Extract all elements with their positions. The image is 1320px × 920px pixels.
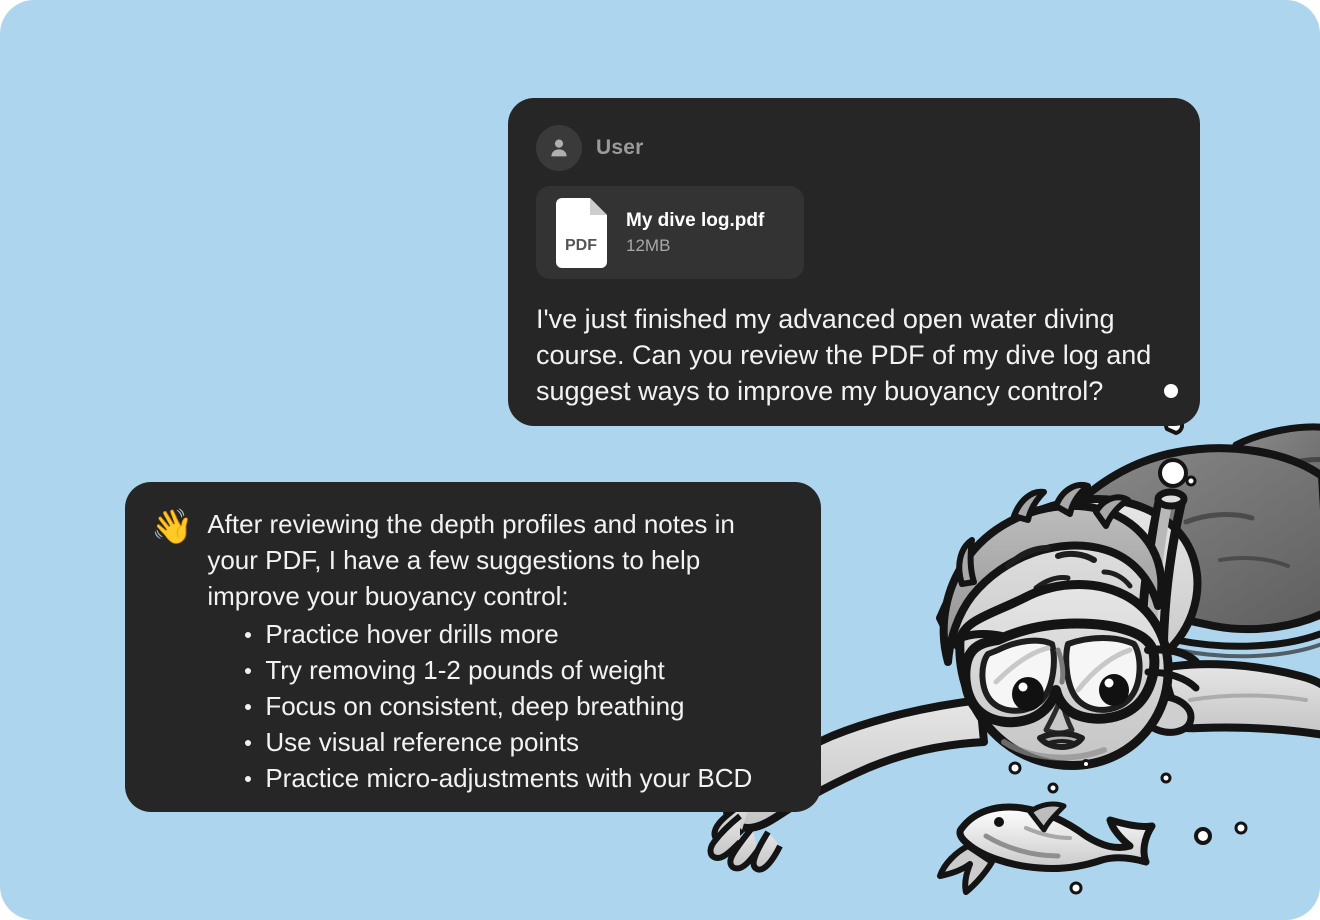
list-item: Practice hover drills more [243, 616, 793, 652]
diver-right-arm [1136, 664, 1320, 736]
dive-mask [954, 624, 1196, 723]
assistant-body: 👋 After reviewing the depth profiles and… [151, 506, 793, 796]
person-avatar-icon [536, 125, 582, 171]
air-bubbles [1010, 389, 1246, 893]
attachment-file-name: My dive log.pdf [626, 210, 764, 232]
diver-hair [944, 485, 1162, 662]
svg-text:PDF: PDF [565, 237, 597, 254]
waving-hand-emoji: 👋 [151, 508, 193, 796]
attachment-file-size: 12MB [626, 237, 764, 256]
fish [940, 804, 1152, 892]
app-canvas: User PDF My dive log.pdf 12MB I've just … [0, 0, 1320, 920]
diver-body [940, 448, 1320, 690]
list-item: Practice micro-adjustments with your BCD [243, 760, 793, 796]
attachment-card[interactable]: PDF My dive log.pdf 12MB [536, 186, 804, 279]
diver-head [960, 585, 1168, 766]
assistant-text-column: After reviewing the depth profiles and n… [207, 506, 793, 796]
assistant-message-bubble: 👋 After reviewing the depth profiles and… [125, 482, 821, 812]
list-item: Focus on consistent, deep breathing [243, 688, 793, 724]
list-item: Try removing 1-2 pounds of weight [243, 652, 793, 688]
attachment-meta: My dive log.pdf 12MB [626, 210, 764, 256]
user-message-bubble: User PDF My dive log.pdf 12MB I've just … [508, 98, 1200, 426]
user-header: User [536, 124, 1170, 172]
assistant-intro-text: After reviewing the depth profiles and n… [207, 506, 767, 614]
pdf-file-icon: PDF [552, 198, 611, 268]
snorkel [1140, 492, 1191, 732]
diver-legs [1231, 427, 1320, 560]
user-name-label: User [596, 136, 644, 160]
list-item: Use visual reference points [243, 724, 793, 760]
user-message-text: I've just finished my advanced open wate… [536, 301, 1170, 409]
suggestion-list: Practice hover drills more Try removing … [207, 616, 793, 796]
